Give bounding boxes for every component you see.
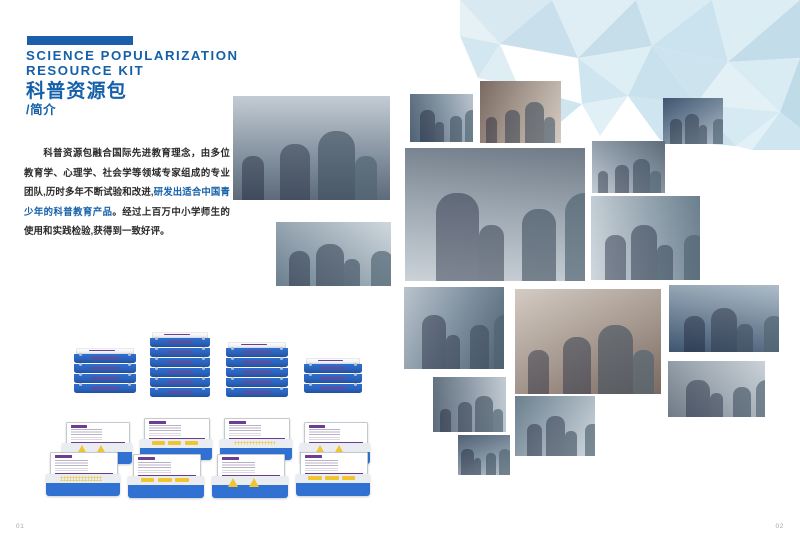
kit-lid-text-lines: [309, 429, 340, 440]
kit-lid-title-bar: [229, 421, 245, 424]
kit-case-clip-icon: [79, 373, 82, 376]
kit-case-clip-icon: [354, 363, 357, 366]
kit-case-stack: [74, 348, 136, 394]
kit-block-piece: [168, 441, 181, 444]
collage-photo: [515, 396, 595, 456]
title-en-line1: SCIENCE POPULARIZATION: [26, 49, 266, 64]
kit-case-tray: [150, 358, 210, 367]
product-kit-display: [22, 330, 382, 485]
photo-subject: [493, 409, 503, 432]
photo-subject: [546, 416, 565, 456]
photo-subject: [499, 449, 510, 475]
kit-case-clip-icon: [202, 347, 205, 350]
kit-case-clip-icon: [155, 337, 158, 340]
accent-bar: [27, 36, 133, 45]
kit-case-clip-icon: [280, 367, 283, 370]
kit-block-piece: [175, 478, 189, 482]
photo-subject: [633, 159, 651, 193]
kit-case-clip-icon: [231, 347, 234, 350]
kit-case-tray: [226, 378, 288, 387]
kit-case-clip-icon: [354, 373, 357, 376]
kit-case-tray: [74, 354, 136, 363]
page-title-english: SCIENCE POPULARIZATION RESOURCE KIT: [26, 49, 266, 78]
kit-case-clip-icon: [202, 367, 205, 370]
photo-subject: [355, 156, 377, 200]
photo-subject: [505, 110, 520, 143]
kit-case-tray: [150, 388, 210, 397]
photo-subject: [699, 125, 707, 144]
collage-photo: [405, 148, 585, 281]
kit-case-tray: [304, 384, 362, 393]
kit-case-clip-icon: [202, 387, 205, 390]
kit-lid-title-bar: [309, 425, 325, 428]
photo-subject: [440, 409, 450, 432]
kit-case-tray: [150, 348, 210, 357]
kit-case-clip-icon: [155, 347, 158, 350]
kit-case-clip-icon: [79, 383, 82, 386]
collage-photo: [276, 222, 391, 286]
photo-subject: [461, 449, 473, 475]
kit-block-piece: [141, 478, 155, 482]
kit-case-clip-icon: [309, 383, 312, 386]
photo-subject: [670, 119, 681, 144]
kit-case-tray: [226, 368, 288, 377]
photo-image: [410, 94, 473, 142]
kit-open-box: [296, 452, 370, 496]
photo-subject: [458, 402, 472, 432]
kit-case-tray: [74, 384, 136, 393]
kit-contents: [137, 477, 195, 484]
photo-subject: [450, 116, 462, 142]
kit-case-clip-icon: [128, 353, 131, 356]
kit-contents: [70, 444, 123, 450]
photo-subject: [585, 424, 595, 456]
photo-subject: [344, 259, 360, 286]
photo-subject: [684, 316, 705, 352]
photo-subject: [242, 156, 264, 200]
kit-block-piece: [158, 478, 172, 482]
kit-dot-grid-piece: [60, 476, 102, 481]
kit-triangle-piece: [228, 478, 238, 487]
kit-contents: [221, 477, 279, 484]
kit-case-clip-icon: [79, 353, 82, 356]
kit-lid-title-bar: [138, 457, 155, 460]
kit-case-clip-icon: [231, 377, 234, 380]
photo-image: [668, 361, 765, 417]
photo-subject: [422, 315, 446, 369]
kit-open-base: [128, 476, 204, 498]
photo-subject: [475, 396, 493, 432]
kit-block-piece: [152, 441, 165, 444]
kit-case-tray: [74, 364, 136, 373]
photo-subject: [446, 335, 460, 369]
collage-photo: [433, 377, 506, 432]
kit-case-clip-icon: [128, 373, 131, 376]
kit-case-tray: [150, 368, 210, 377]
kit-case-label: [89, 350, 116, 351]
kit-lid-title-bar: [55, 455, 72, 458]
kit-case-stack: [226, 342, 288, 398]
kit-case-tray: [150, 338, 210, 347]
kit-lid-text-lines: [149, 425, 181, 436]
photo-subject: [710, 393, 724, 417]
photo-image: [515, 289, 661, 394]
photo-subject: [756, 380, 765, 417]
photo-subject: [280, 144, 310, 200]
photo-subject: [733, 387, 751, 417]
collage-photo: [663, 98, 723, 144]
photo-image: [433, 377, 506, 432]
kit-lid-text-lines: [55, 460, 88, 471]
kit-case-tray: [74, 374, 136, 383]
photo-subject: [474, 458, 481, 475]
kit-contents: [149, 440, 204, 446]
photo-subject: [544, 117, 555, 143]
photo-subject: [633, 350, 653, 394]
photo-subject: [764, 316, 779, 352]
kit-case-clip-icon: [155, 387, 158, 390]
photo-image: [480, 81, 561, 143]
kit-open-base: [46, 474, 120, 496]
kit-open-base: [296, 474, 370, 496]
kit-case-clip-icon: [309, 373, 312, 376]
collage-photo: [404, 287, 504, 369]
kit-lid-title-bar: [149, 421, 165, 424]
photo-subject: [465, 110, 473, 142]
kit-case-clip-icon: [280, 377, 283, 380]
photo-image: [592, 141, 665, 193]
kit-case-clip-icon: [309, 363, 312, 366]
collage-photo: [592, 141, 665, 193]
kit-case-tray: [226, 348, 288, 357]
kit-case-clip-icon: [231, 357, 234, 360]
kit-case-tray: [150, 378, 210, 387]
kit-open-box: [128, 454, 204, 498]
kit-open-base: [212, 476, 288, 498]
photo-subject: [479, 225, 504, 281]
photo-subject: [318, 131, 356, 200]
photo-subject: [436, 193, 479, 281]
collage-photo: [669, 285, 779, 352]
kit-case-tray: [226, 358, 288, 367]
kit-contents: [305, 475, 361, 482]
photo-image: [591, 196, 700, 280]
photo-image: [669, 285, 779, 352]
kit-case-clip-icon: [128, 363, 131, 366]
page-title-chinese: 科普资源包: [26, 80, 127, 103]
kit-contents: [55, 475, 111, 482]
page-number-right: 02: [775, 523, 784, 530]
kit-case-clip-icon: [354, 383, 357, 386]
photo-subject: [563, 337, 591, 394]
photo-subject: [631, 225, 657, 280]
photo-subject: [470, 325, 489, 369]
photo-subject: [435, 122, 444, 142]
kit-case-clip-icon: [155, 357, 158, 360]
kit-triangle-piece: [249, 478, 259, 487]
page-number-left: 01: [16, 523, 25, 530]
photo-image: [233, 96, 390, 200]
kit-case-clip-icon: [128, 383, 131, 386]
photo-subject: [650, 171, 660, 193]
kit-block-piece: [325, 476, 338, 480]
photo-image: [404, 287, 504, 369]
kit-lid-title-bar: [222, 457, 239, 460]
photo-subject: [685, 114, 699, 144]
intro-paragraph: 科普资源包融合国际先进教育理念，由多位教育学、心理学、社会学等领域专家组成的专业…: [24, 143, 230, 240]
photo-subject: [565, 431, 576, 456]
photo-subject: [713, 119, 723, 144]
collage-photo: [480, 81, 561, 143]
kit-case-label: [318, 360, 343, 361]
kit-case-clip-icon: [231, 387, 234, 390]
kit-lid-title-bar: [71, 425, 87, 428]
collage-photo: [668, 361, 765, 417]
photo-subject: [657, 245, 672, 280]
kit-case-clip-icon: [202, 337, 205, 340]
photo-subject: [525, 102, 544, 143]
photo-subject: [522, 209, 556, 281]
photo-image: [458, 435, 510, 475]
collage-photo: [515, 289, 661, 394]
collage-photo: [233, 96, 390, 200]
collage-photo: [458, 435, 510, 475]
photo-image: [276, 222, 391, 286]
photo-subject: [737, 324, 752, 352]
collage-photo: [591, 196, 700, 280]
photo-subject: [486, 117, 497, 143]
kit-block-piece: [342, 476, 355, 480]
photo-subject: [289, 251, 311, 286]
kit-case-tray: [304, 374, 362, 383]
kit-case-stack: [304, 358, 362, 394]
kit-lid-text-lines: [138, 462, 171, 473]
photo-subject: [565, 193, 585, 281]
photo-subject: [598, 171, 608, 193]
kit-case-clip-icon: [280, 357, 283, 360]
kit-open-box: [46, 452, 120, 496]
kit-block-piece: [308, 476, 321, 480]
photo-subject: [494, 315, 504, 369]
page-subtitle: /简介: [26, 102, 56, 118]
kit-case-clip-icon: [155, 377, 158, 380]
photo-subject: [711, 308, 737, 352]
kit-case-tray: [304, 364, 362, 373]
photo-subject: [527, 424, 542, 456]
photo-subject: [686, 380, 709, 417]
kit-case-clip-icon: [79, 363, 82, 366]
kit-case-clip-icon: [280, 347, 283, 350]
kit-case-clip-icon: [231, 367, 234, 370]
kit-lid-title-bar: [305, 455, 322, 458]
kit-contents: [229, 440, 284, 446]
kit-case-clip-icon: [202, 377, 205, 380]
photo-subject: [605, 235, 626, 280]
photo-subject: [371, 251, 391, 286]
photo-subject: [684, 235, 700, 280]
photo-subject: [528, 350, 548, 394]
title-en-line2: RESOURCE KIT: [26, 64, 266, 79]
kit-case-label: [241, 344, 268, 345]
kit-dot-grid-piece: [234, 441, 274, 446]
kit-case-clip-icon: [202, 357, 205, 360]
collage-photo: [410, 94, 473, 142]
kit-contents: [308, 444, 361, 450]
photo-subject: [420, 110, 435, 142]
kit-lid-text-lines: [222, 462, 255, 473]
kit-case-clip-icon: [280, 387, 283, 390]
photo-subject: [615, 165, 629, 193]
photo-image: [405, 148, 585, 281]
kit-case-label: [164, 334, 190, 335]
kit-block-piece: [185, 441, 198, 444]
kit-open-box: [212, 454, 288, 498]
photo-subject: [598, 325, 633, 394]
kit-lid-text-lines: [71, 429, 102, 440]
kit-lid-text-lines: [229, 425, 261, 436]
photo-subject: [316, 244, 344, 286]
photo-image: [663, 98, 723, 144]
kit-case-tray: [226, 388, 288, 397]
photo-subject: [486, 453, 496, 475]
kit-case-stack: [150, 332, 210, 398]
brochure-page: SCIENCE POPULARIZATION RESOURCE KIT 科普资源…: [0, 0, 800, 546]
kit-case-clip-icon: [155, 367, 158, 370]
kit-lid-text-lines: [305, 460, 338, 471]
photo-image: [515, 396, 595, 456]
